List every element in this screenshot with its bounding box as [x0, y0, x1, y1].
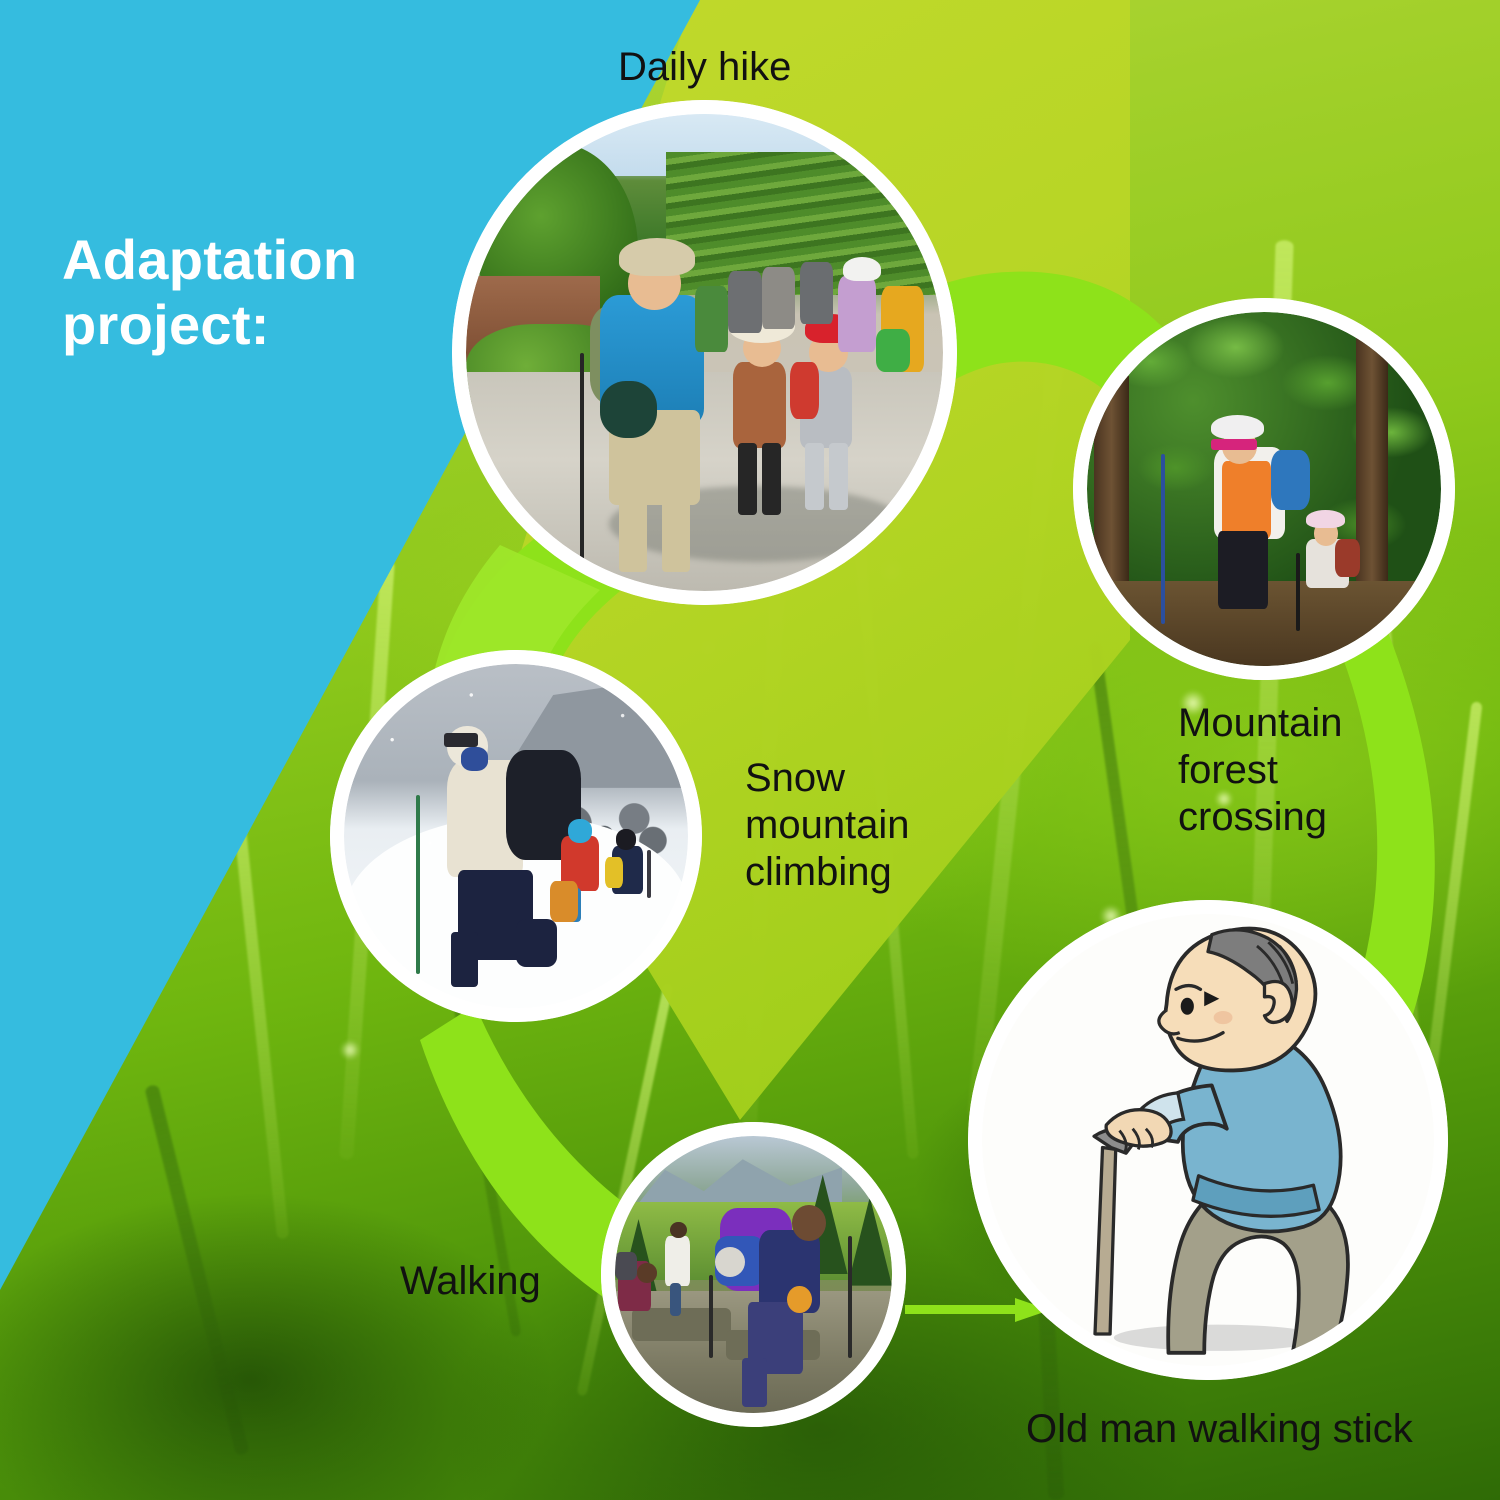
label-mountain-forest-line-2: forest [1178, 747, 1343, 794]
title-line-2: project: [62, 293, 482, 358]
photo-circle-snow-climbing[interactable] [330, 650, 702, 1022]
label-old-man-stick: Old man walking stick [1026, 1406, 1413, 1453]
title-line-1: Adaptation [62, 228, 482, 293]
label-snow-climbing: Snow mountain climbing [745, 755, 910, 897]
label-walking: Walking [400, 1258, 541, 1305]
snow-climbing-photo [344, 664, 688, 1008]
photo-circle-walking[interactable] [601, 1122, 906, 1427]
old-man-illustration [982, 914, 1434, 1366]
label-mountain-forest-line-1: Mountain [1178, 700, 1343, 747]
label-snow-climbing-line-1: Snow [745, 755, 910, 802]
daily-hike-photo [466, 114, 943, 591]
page-title: Adaptation project: [62, 228, 482, 358]
label-snow-climbing-line-2: mountain [745, 802, 910, 849]
label-mountain-forest-line-3: crossing [1178, 794, 1343, 841]
label-daily-hike: Daily hike [618, 44, 791, 91]
illustration-circle-old-man[interactable] [968, 900, 1448, 1380]
label-snow-climbing-line-3: climbing [745, 849, 910, 896]
walking-photo [615, 1136, 892, 1413]
photo-circle-mountain-forest[interactable] [1073, 298, 1455, 680]
mountain-forest-photo [1087, 312, 1441, 666]
photo-circle-daily-hike[interactable] [452, 100, 957, 605]
product-infographic-poster: Adaptation project: Daily hike Mountain … [0, 0, 1500, 1500]
label-mountain-forest: Mountain forest crossing [1178, 700, 1343, 842]
